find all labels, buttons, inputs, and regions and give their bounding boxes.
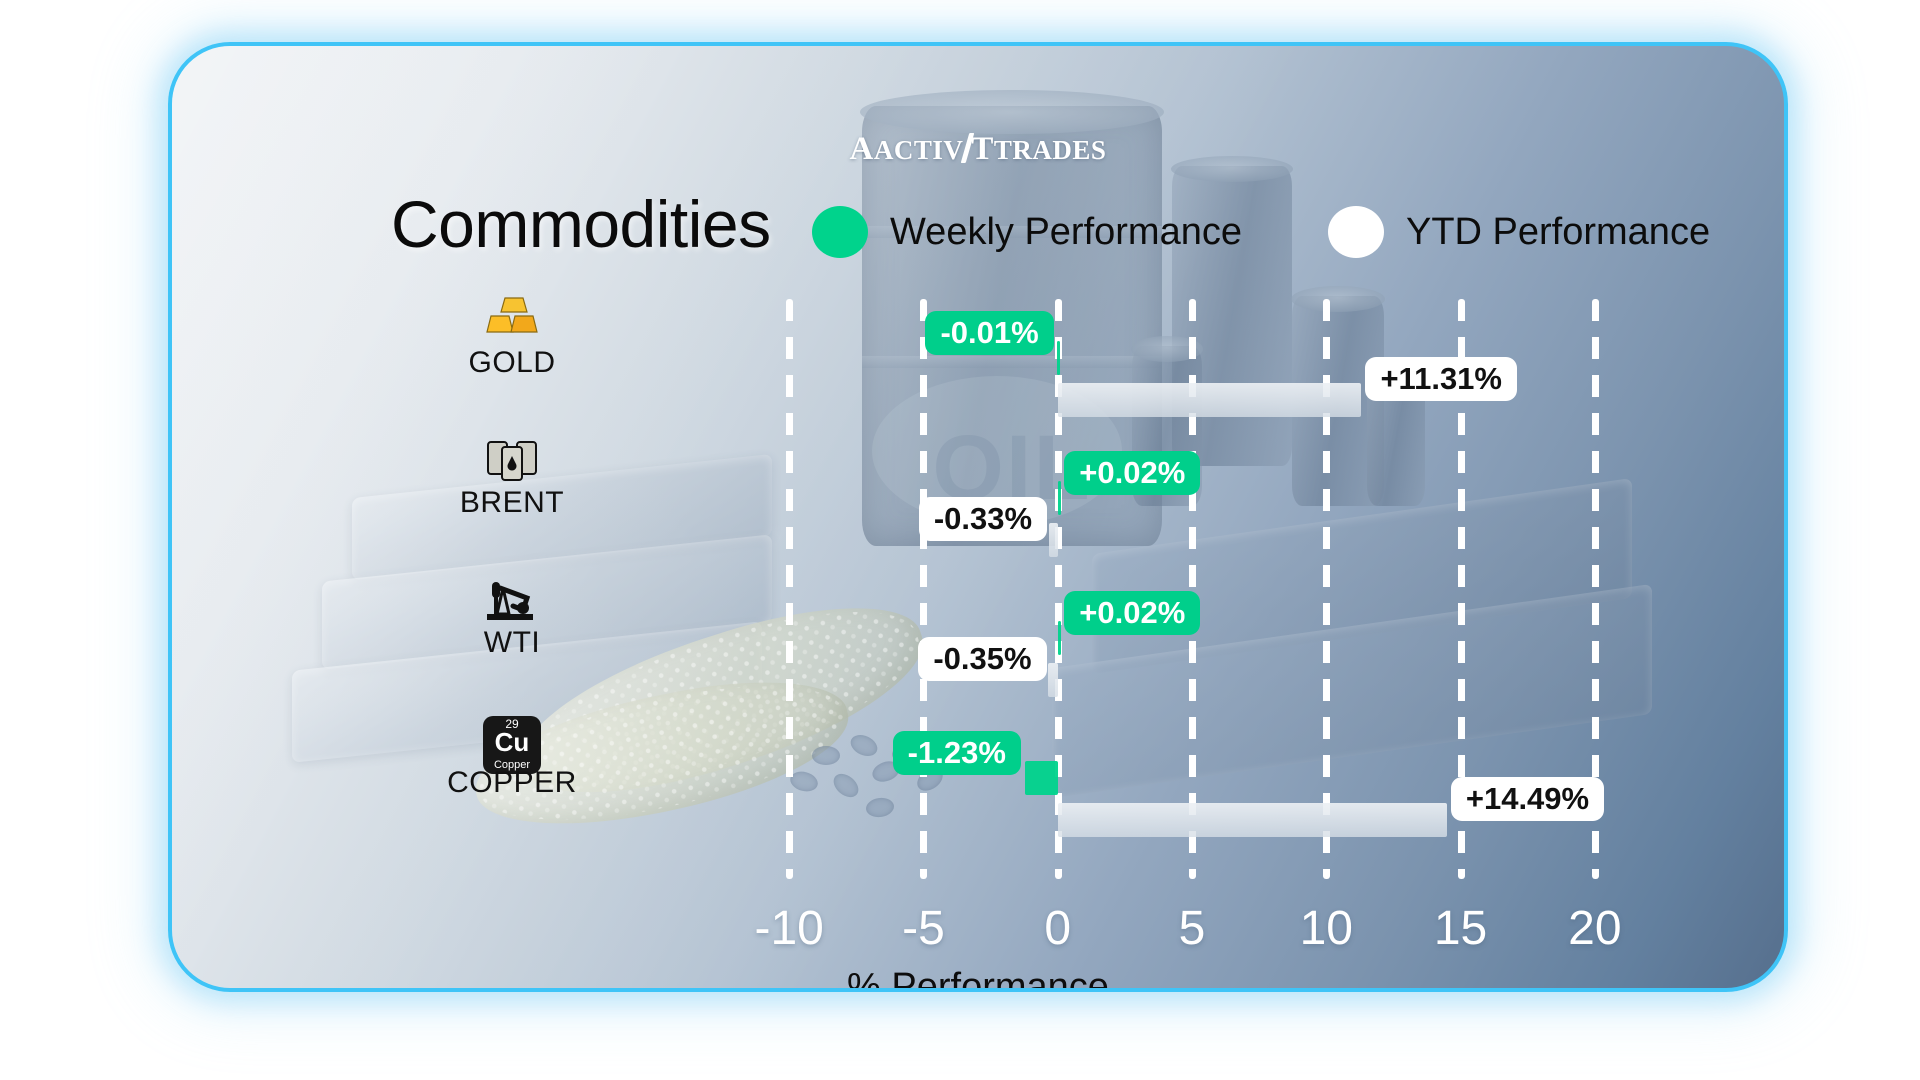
x-tick-15: 15: [1391, 901, 1531, 956]
x-tick--5: -5: [853, 901, 993, 956]
bar-ytd-copper[interactable]: [1058, 803, 1447, 837]
screenshot-root: OIL: [0, 0, 1920, 1080]
category-label-wti: WTI: [402, 626, 622, 660]
x-tick--10: -10: [719, 901, 859, 956]
value-ytd-brent: -0.33%: [919, 497, 1047, 541]
x-tick-20: 20: [1525, 901, 1665, 956]
oil-pumpjack-icon: [452, 576, 572, 629]
oil-barrels-icon: [452, 436, 572, 489]
category-label-brent: BRENT: [402, 486, 622, 520]
category-label-gold: GOLD: [402, 346, 622, 380]
x-tick-5: 5: [1122, 901, 1262, 956]
gold-bars-icon: [452, 296, 572, 343]
bar-ytd-brent[interactable]: [1049, 523, 1058, 557]
bar-weekly-brent[interactable]: [1058, 481, 1061, 515]
bar-ytd-wti[interactable]: [1048, 663, 1057, 697]
x-tick-0: 0: [988, 901, 1128, 956]
value-weekly-wti: +0.02%: [1064, 591, 1200, 635]
x-axis-label: % Performance: [172, 966, 1784, 992]
bar-weekly-copper[interactable]: [1025, 761, 1058, 795]
gridline--5: [920, 299, 927, 879]
chart-plot-area: -10-505101520GOLD-0.01%+11.31%BRENT+0.02…: [172, 46, 1784, 988]
value-ytd-gold: +11.31%: [1365, 357, 1517, 401]
value-weekly-brent: +0.02%: [1064, 451, 1200, 495]
bar-weekly-gold[interactable]: [1057, 341, 1060, 375]
value-ytd-copper: +14.49%: [1451, 777, 1604, 821]
bar-ytd-gold[interactable]: [1058, 383, 1362, 417]
value-ytd-wti: -0.35%: [918, 637, 1046, 681]
value-weekly-gold: -0.01%: [925, 311, 1053, 355]
gridline--10: [786, 299, 793, 879]
category-label-copper: COPPER: [402, 766, 622, 800]
x-tick-10: 10: [1256, 901, 1396, 956]
value-weekly-copper: -1.23%: [893, 731, 1021, 775]
commodities-performance-card: OIL: [168, 42, 1788, 992]
bar-weekly-wti[interactable]: [1058, 621, 1061, 655]
